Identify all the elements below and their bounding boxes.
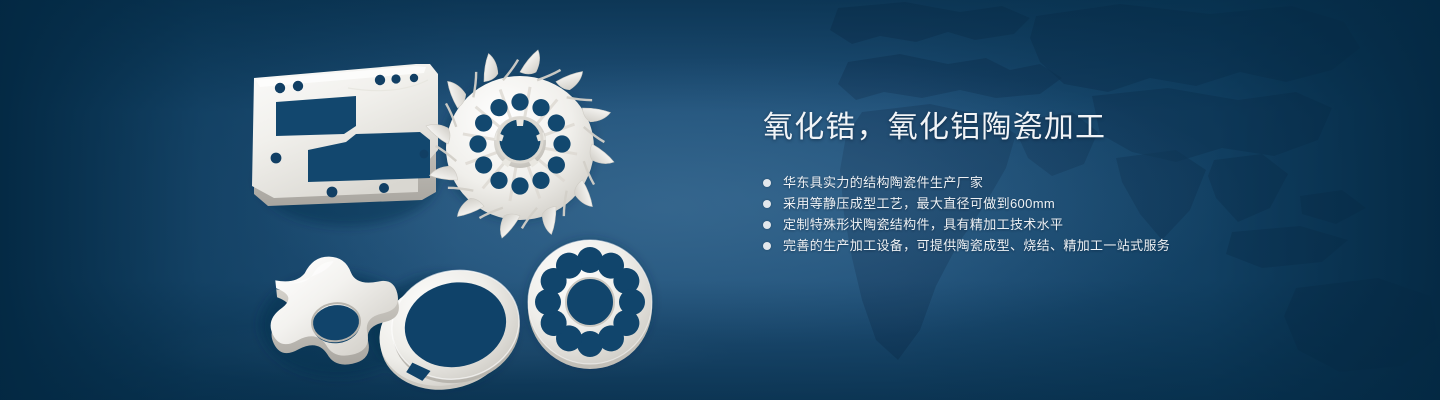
bullet-dot-icon [763, 242, 771, 250]
hero-banner: 氧化锆，氧化铝陶瓷加工 华东具实力的结构陶瓷件生产厂家 采用等静压成型工艺，最大… [0, 0, 1440, 400]
ceramic-plate-part [252, 64, 438, 206]
ceramic-perforated-ring-part [528, 240, 652, 369]
bullet-dot-icon [763, 200, 771, 208]
ceramic-products-image [228, 40, 698, 380]
list-item-label: 华东具实力的结构陶瓷件生产厂家 [783, 172, 983, 193]
ceramic-impeller-part [426, 50, 614, 238]
list-item: 华东具实力的结构陶瓷件生产厂家 [763, 172, 1363, 193]
bullet-dot-icon [763, 221, 771, 229]
list-item-label: 采用等静压成型工艺，最大直径可做到600mm [783, 193, 1055, 214]
list-item-label: 完善的生产加工设备，可提供陶瓷成型、烧结、精加工一站式服务 [783, 235, 1170, 256]
list-item-label: 定制特殊形状陶瓷结构件，具有精加工技术水平 [783, 214, 1063, 235]
feature-list: 华东具实力的结构陶瓷件生产厂家 采用等静压成型工艺，最大直径可做到600mm 定… [763, 172, 1363, 256]
ceramic-ring-part [368, 259, 531, 400]
list-item: 定制特殊形状陶瓷结构件，具有精加工技术水平 [763, 214, 1363, 235]
banner-copy: 氧化锆，氧化铝陶瓷加工 华东具实力的结构陶瓷件生产厂家 采用等静压成型工艺，最大… [763, 108, 1363, 256]
page-title: 氧化锆，氧化铝陶瓷加工 [763, 108, 1363, 148]
list-item: 采用等静压成型工艺，最大直径可做到600mm [763, 193, 1363, 214]
list-item: 完善的生产加工设备，可提供陶瓷成型、烧结、精加工一站式服务 [763, 235, 1363, 256]
bullet-dot-icon [763, 179, 771, 187]
